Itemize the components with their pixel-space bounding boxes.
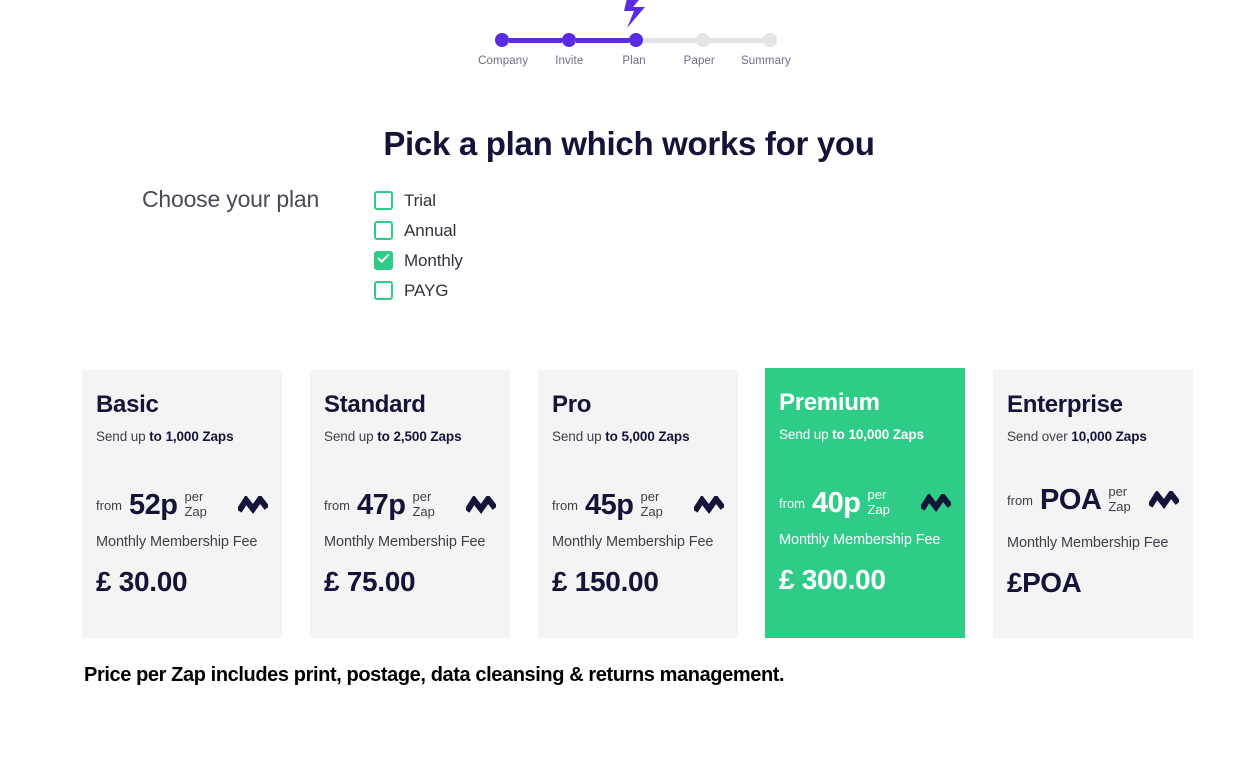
checkbox-row-trial[interactable]: Trial bbox=[374, 191, 463, 210]
plan-allowance: Send up to 1,000 Zaps bbox=[96, 429, 268, 444]
plan-allowance-prefix: Send up bbox=[324, 429, 377, 444]
plan-allowance: Send up to 5,000 Zaps bbox=[552, 429, 724, 444]
plan-price-row: from 45p per Zap bbox=[552, 488, 724, 522]
stepper-label-summary[interactable]: Summary bbox=[732, 55, 800, 67]
checkbox-payg[interactable] bbox=[374, 281, 393, 300]
zap-zigzag-icon bbox=[694, 496, 724, 515]
price-per-zap: 52p bbox=[129, 491, 177, 520]
plan-allowance: Send up to 10,000 Zaps bbox=[779, 427, 951, 442]
membership-fee-label: Monthly Membership Fee bbox=[1007, 535, 1179, 551]
pricing-card-standard[interactable]: Standard Send up to 2,500 Zaps from 47p … bbox=[310, 370, 510, 638]
membership-fee-amount: £ 30.00 bbox=[96, 566, 268, 598]
zap-zigzag-icon bbox=[466, 496, 496, 515]
price-from-label: from bbox=[1007, 493, 1033, 508]
plan-allowance-prefix: Send up bbox=[779, 427, 832, 442]
price-per-zap: 47p bbox=[357, 491, 405, 520]
plan-allowance-prefix: Send over bbox=[1007, 429, 1071, 444]
checkbox-label-monthly: Monthly bbox=[404, 251, 463, 271]
plan-price-row: from 40p per Zap bbox=[779, 486, 951, 520]
stepper-dot-invite[interactable] bbox=[562, 33, 576, 47]
plan-name: Standard bbox=[324, 392, 496, 417]
price-disclaimer: Price per Zap includes print, postage, d… bbox=[84, 664, 784, 687]
checkbox-trial[interactable] bbox=[374, 191, 393, 210]
stepper-dot-company[interactable] bbox=[495, 33, 509, 47]
price-unit-label: per Zap bbox=[184, 490, 218, 520]
membership-fee-label: Monthly Membership Fee bbox=[779, 532, 951, 548]
price-unit-label: per Zap bbox=[412, 490, 446, 520]
pricing-card-enterprise[interactable]: Enterprise Send over 10,000 Zaps from PO… bbox=[993, 370, 1193, 638]
zap-zigzag-icon bbox=[1149, 491, 1179, 510]
stepper-labels: Company Invite Plan Paper Summary bbox=[470, 55, 800, 67]
stepper-label-company[interactable]: Company bbox=[470, 55, 536, 67]
plan-allowance-bold: to 2,500 Zaps bbox=[377, 429, 461, 444]
pricing-card-pro[interactable]: Pro Send up to 5,000 Zaps from 45p per Z… bbox=[538, 370, 738, 638]
checkbox-row-payg[interactable]: PAYG bbox=[374, 281, 463, 300]
pricing-card-premium[interactable]: Premium Send up to 10,000 Zaps from 40p … bbox=[765, 368, 965, 638]
stepper-label-paper[interactable]: Paper bbox=[667, 55, 732, 67]
stepper-dot-summary[interactable] bbox=[763, 33, 777, 47]
checkbox-row-monthly[interactable]: Monthly bbox=[374, 251, 463, 270]
plan-price-row: from 52p per Zap bbox=[96, 488, 268, 522]
plan-allowance: Send over 10,000 Zaps bbox=[1007, 429, 1179, 444]
pricing-card-list: Basic Send up to 1,000 Zaps from 52p per… bbox=[82, 368, 1194, 640]
plan-allowance-prefix: Send up bbox=[552, 429, 605, 444]
stepper-line-3 bbox=[643, 38, 696, 43]
plan-selection-page: Company Invite Plan Paper Summary Pick a… bbox=[0, 0, 1258, 777]
price-from-label: from bbox=[552, 498, 578, 513]
stepper-line-4 bbox=[710, 38, 763, 43]
membership-fee-label: Monthly Membership Fee bbox=[96, 534, 268, 550]
checkbox-row-annual[interactable]: Annual bbox=[374, 221, 463, 240]
zap-zigzag-icon bbox=[238, 496, 268, 515]
page-title: Pick a plan which works for you bbox=[0, 125, 1258, 163]
check-icon bbox=[377, 251, 389, 263]
zap-logo-icon bbox=[624, 0, 650, 28]
price-from-label: from bbox=[324, 498, 350, 513]
stepper-line-2 bbox=[576, 38, 629, 43]
membership-fee-amount: £POA bbox=[1007, 567, 1179, 599]
checkbox-label-annual: Annual bbox=[404, 221, 456, 241]
checkbox-label-trial: Trial bbox=[404, 191, 436, 211]
plan-allowance-bold: to 1,000 Zaps bbox=[149, 429, 233, 444]
checkbox-monthly[interactable] bbox=[374, 251, 393, 270]
plan-allowance-bold: to 5,000 Zaps bbox=[605, 429, 689, 444]
stepper-label-plan[interactable]: Plan bbox=[601, 55, 666, 67]
membership-fee-amount: £ 300.00 bbox=[779, 564, 951, 596]
plan-price-row: from 47p per Zap bbox=[324, 488, 496, 522]
choose-plan-label: Choose your plan bbox=[142, 186, 319, 213]
stepper-track bbox=[495, 33, 777, 47]
pricing-card-basic[interactable]: Basic Send up to 1,000 Zaps from 52p per… bbox=[82, 370, 282, 638]
checkbox-label-payg: PAYG bbox=[404, 281, 448, 301]
plan-allowance: Send up to 2,500 Zaps bbox=[324, 429, 496, 444]
price-unit-label: per Zap bbox=[640, 490, 674, 520]
plan-allowance-prefix: Send up bbox=[96, 429, 149, 444]
plan-allowance-bold: to 10,000 Zaps bbox=[832, 427, 924, 442]
price-from-label: from bbox=[779, 496, 805, 511]
price-per-zap: POA bbox=[1040, 486, 1101, 515]
plan-name: Premium bbox=[779, 390, 951, 415]
membership-fee-label: Monthly Membership Fee bbox=[324, 534, 496, 550]
price-from-label: from bbox=[96, 498, 122, 513]
stepper-dot-paper[interactable] bbox=[696, 33, 710, 47]
price-per-zap: 45p bbox=[585, 491, 633, 520]
stepper-line-1 bbox=[509, 38, 562, 43]
plan-allowance-bold: 10,000 Zaps bbox=[1071, 429, 1146, 444]
plan-name: Basic bbox=[96, 392, 268, 417]
membership-fee-label: Monthly Membership Fee bbox=[552, 534, 724, 550]
plan-frequency-group: Trial Annual Monthly PAYG bbox=[374, 191, 463, 300]
membership-fee-amount: £ 150.00 bbox=[552, 566, 724, 598]
price-unit-label: per Zap bbox=[1108, 485, 1142, 515]
progress-stepper: Company Invite Plan Paper Summary bbox=[0, 0, 1258, 80]
checkbox-annual[interactable] bbox=[374, 221, 393, 240]
plan-name: Pro bbox=[552, 392, 724, 417]
stepper-dot-plan[interactable] bbox=[629, 33, 643, 47]
membership-fee-amount: £ 75.00 bbox=[324, 566, 496, 598]
price-unit-label: per Zap bbox=[867, 488, 901, 518]
price-per-zap: 40p bbox=[812, 489, 860, 518]
zap-zigzag-icon bbox=[921, 494, 951, 513]
plan-price-row: from POA per Zap bbox=[1007, 483, 1179, 517]
plan-name: Enterprise bbox=[1007, 392, 1179, 417]
stepper-label-invite[interactable]: Invite bbox=[537, 55, 601, 67]
